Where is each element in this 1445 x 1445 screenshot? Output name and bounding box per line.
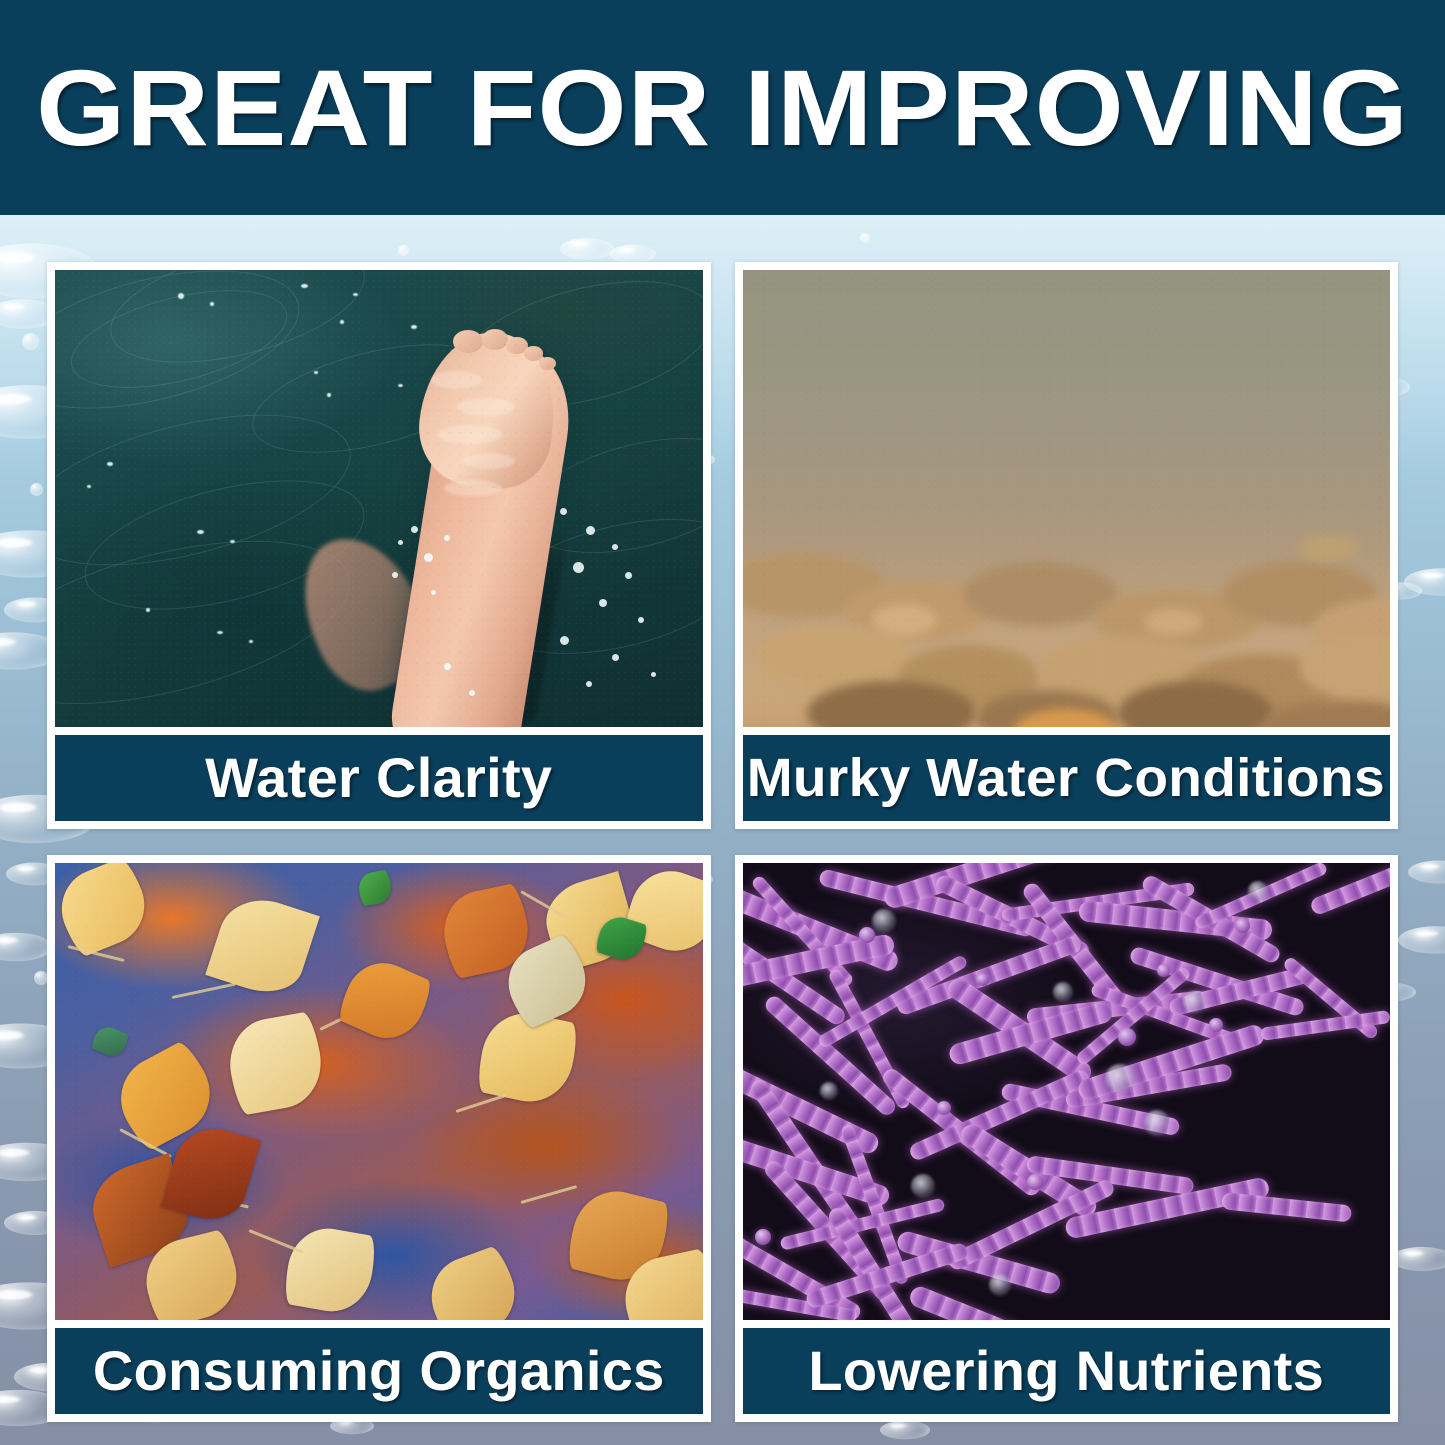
card-label-consuming-organics: Consuming Organics xyxy=(55,1328,703,1414)
bubble-icon xyxy=(1404,568,1445,596)
bubble-icon xyxy=(1408,860,1445,883)
bubble-icon xyxy=(860,233,870,243)
bubble-icon xyxy=(22,333,39,350)
bubble-icon xyxy=(560,238,614,260)
cyanobacteria-microscopy-photo xyxy=(743,863,1391,1320)
bubble-icon xyxy=(1398,926,1445,954)
bubble-icon xyxy=(0,933,52,962)
bubble-icon xyxy=(880,1421,930,1440)
card-label-water-clarity: Water Clarity xyxy=(55,735,703,821)
poster-root: GREAT FOR IMPROVING xyxy=(0,0,1445,1445)
card-label-text: Consuming Organics xyxy=(93,1343,665,1399)
card-label-text: Lowering Nutrients xyxy=(808,1343,1324,1399)
card-label-text: Water Clarity xyxy=(205,750,552,806)
clear-water-foot-photo xyxy=(55,270,703,727)
page-title: GREAT FOR IMPROVING xyxy=(0,54,1445,162)
bubble-icon xyxy=(610,245,656,264)
card-label-murky-water-conditions: Murky Water Conditions xyxy=(743,735,1391,821)
header-banner: GREAT FOR IMPROVING xyxy=(0,0,1445,215)
card-lowering-nutrients[interactable]: Lowering Nutrients xyxy=(735,855,1399,1422)
autumn-leaves-water-photo xyxy=(55,863,703,1320)
bubble-icon xyxy=(34,971,48,985)
bubble-icon xyxy=(398,245,409,256)
benefits-grid: Water Clarity xyxy=(47,262,1398,1422)
card-murky-water-conditions[interactable]: Murky Water Conditions xyxy=(735,262,1399,829)
bubble-icon xyxy=(1390,1247,1445,1271)
card-label-lowering-nutrients: Lowering Nutrients xyxy=(743,1328,1391,1414)
murky-water-photo xyxy=(743,270,1391,727)
card-consuming-organics[interactable]: Consuming Organics xyxy=(47,855,711,1422)
card-label-text: Murky Water Conditions xyxy=(747,751,1385,805)
bubble-icon xyxy=(30,483,43,496)
card-water-clarity[interactable]: Water Clarity xyxy=(47,262,711,829)
